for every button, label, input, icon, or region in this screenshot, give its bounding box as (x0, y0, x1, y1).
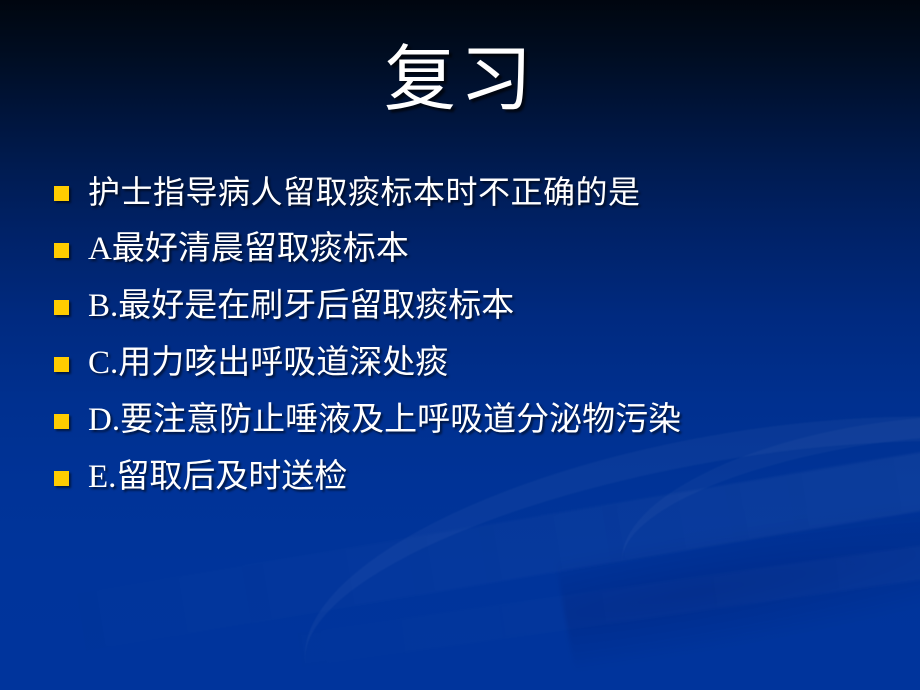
slide-title: 复习 (0, 44, 920, 116)
square-bullet-icon (54, 357, 69, 372)
list-item: D.要注意防止唾液及上呼吸道分泌物污染 (54, 392, 900, 449)
square-bullet-icon (54, 243, 69, 258)
list-item-label: D.要注意防止唾液及上呼吸道分泌物污染 (88, 403, 681, 438)
square-bullet-icon (54, 471, 69, 486)
swoosh-ribbon-secondary (248, 515, 920, 674)
list-item: C.用力咳出呼吸道深处痰 (54, 335, 900, 392)
list-item: 护士指导病人留取痰标本时不正确的是 (54, 164, 900, 221)
list-item: E.留取后及时送检 (54, 449, 900, 506)
list-item-label: B.最好是在刷牙后留取痰标本 (88, 289, 514, 324)
list-item-label: E.留取后及时送检 (88, 460, 347, 495)
square-bullet-icon (54, 414, 69, 429)
square-bullet-icon (54, 186, 69, 201)
list-item-label: C.用力咳出呼吸道深处痰 (88, 346, 448, 381)
square-bullet-icon (54, 300, 69, 315)
presentation-slide: 复习 护士指导病人留取痰标本时不正确的是 A最好清晨留取痰标本 B.最好是在刷牙… (0, 0, 920, 690)
slide-bullet-list: 护士指导病人留取痰标本时不正确的是 A最好清晨留取痰标本 B.最好是在刷牙后留取… (54, 164, 900, 506)
list-item-label: A最好清晨留取痰标本 (88, 232, 409, 267)
list-item: A最好清晨留取痰标本 (54, 221, 900, 278)
list-item-label: 护士指导病人留取痰标本时不正确的是 (88, 176, 641, 210)
list-item: B.最好是在刷牙后留取痰标本 (54, 278, 900, 335)
